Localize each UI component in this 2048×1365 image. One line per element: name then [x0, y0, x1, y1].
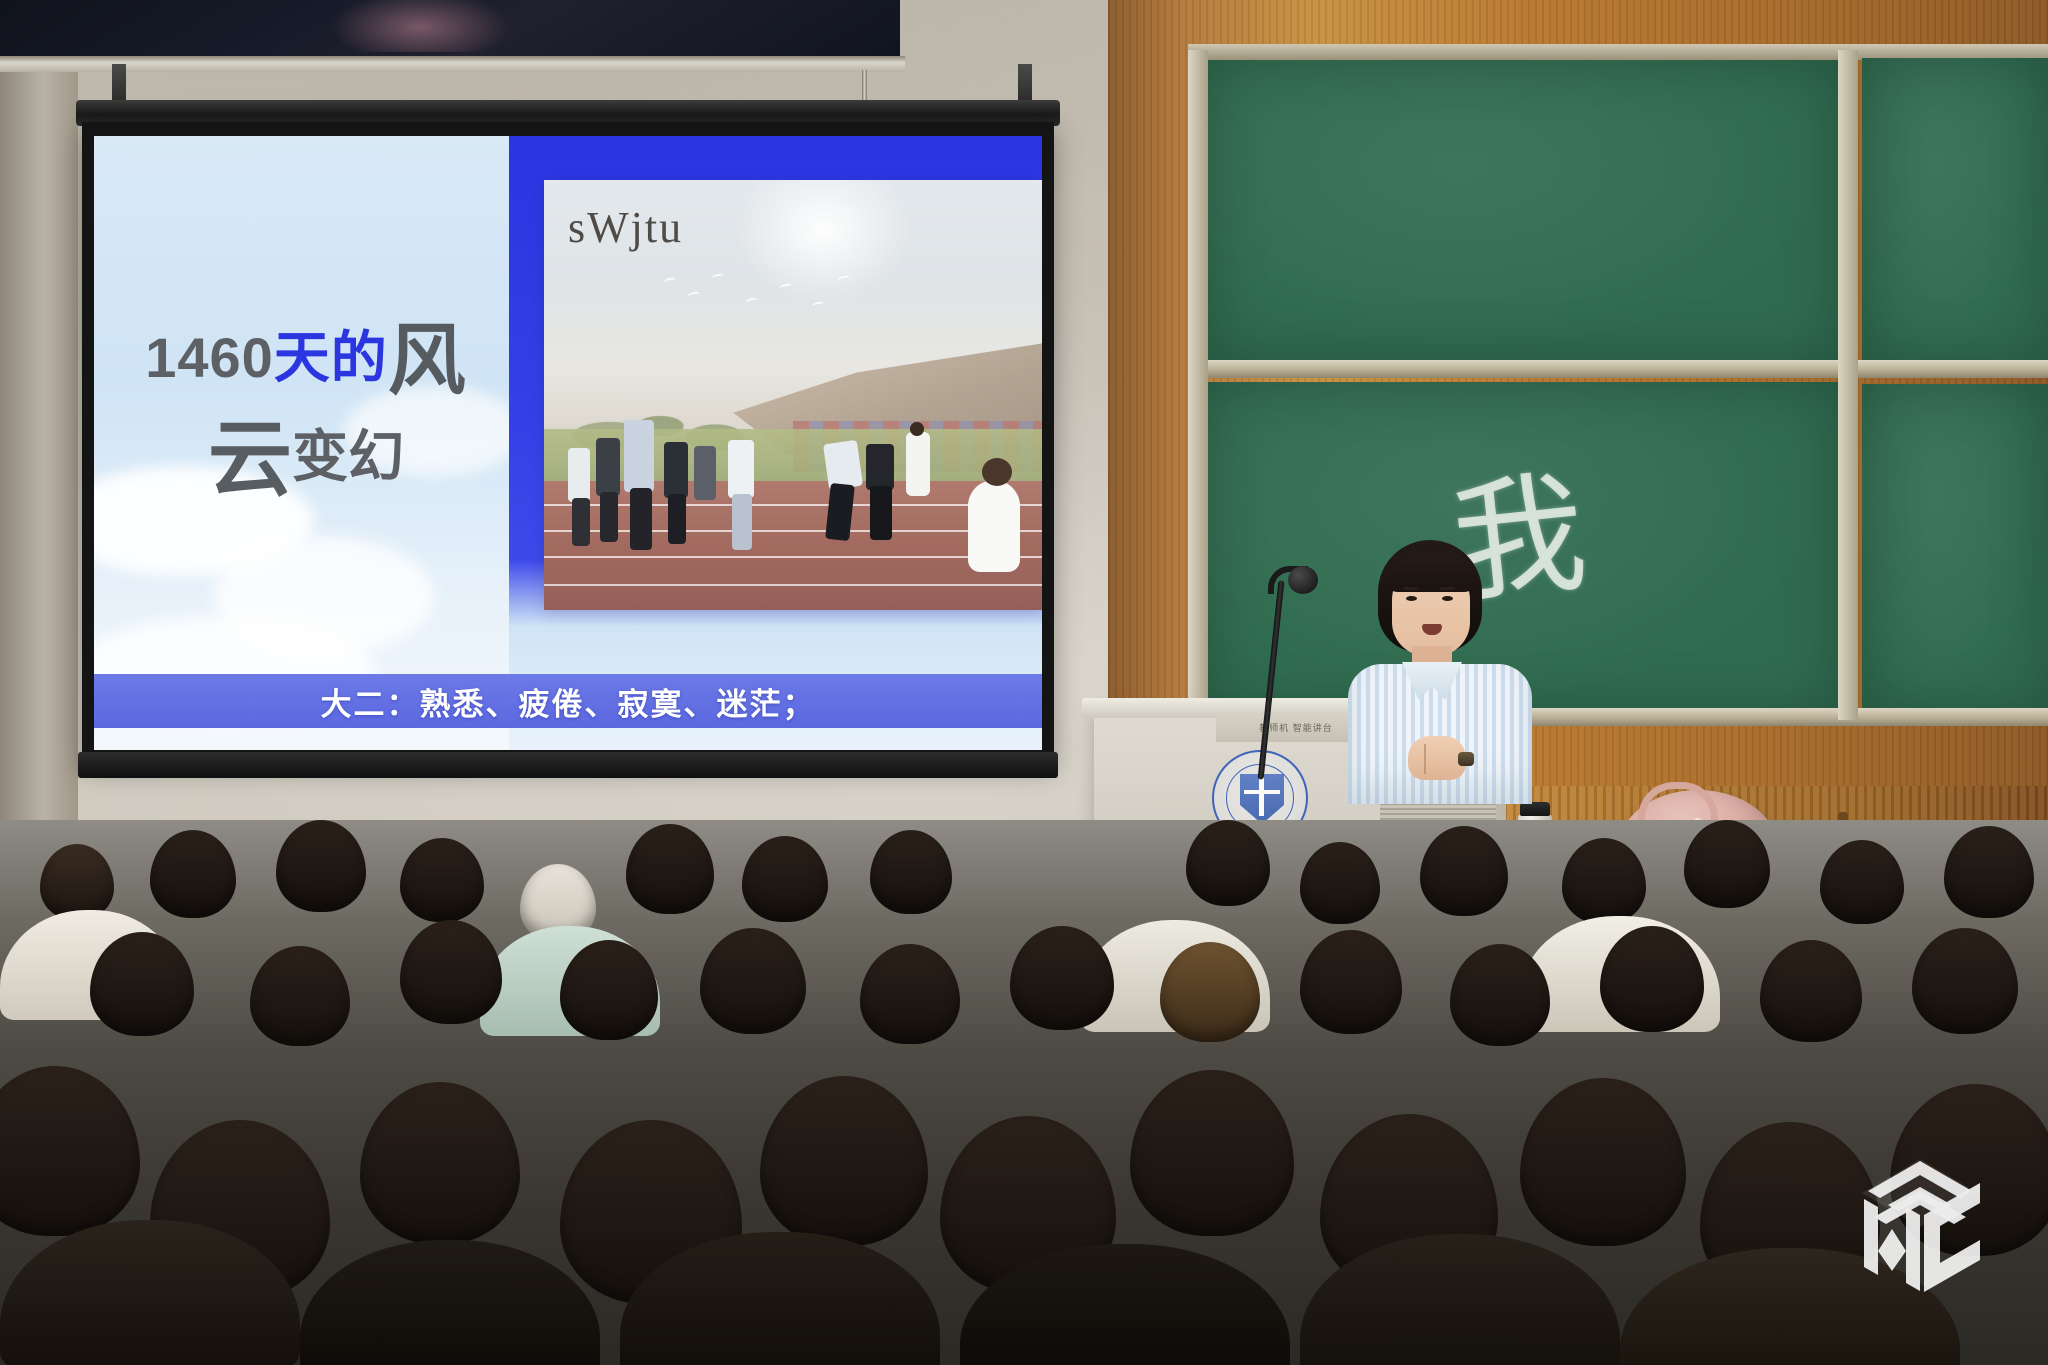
- blackboard-panel-lower-right: [1862, 384, 2048, 712]
- lectern-nameplate-text: 教师机 智能讲台: [1259, 721, 1333, 734]
- photo-foreground-figure: [968, 480, 1020, 572]
- photo-person: [624, 420, 654, 492]
- photo-person: [732, 494, 752, 550]
- wall-left-column: [0, 0, 78, 880]
- photo-person: [596, 438, 620, 496]
- photo-person: [728, 440, 754, 498]
- title-rest-chars: 变幻: [292, 425, 404, 488]
- speaker-eye: [1442, 596, 1453, 601]
- speaker-eyebrow: [1403, 587, 1419, 590]
- slide-caption-text: 大二：熟悉、疲倦、寂寞、迷茫；: [321, 679, 816, 724]
- emblem-shield-icon: [1240, 774, 1284, 824]
- photo-runner: [870, 486, 892, 540]
- speaker-eyebrow: [1439, 587, 1455, 590]
- audience-area: [0, 820, 2048, 1365]
- photo-runner: [866, 444, 894, 490]
- photo-person-head: [910, 422, 924, 436]
- photo-person: [668, 494, 686, 544]
- photo-person: [694, 446, 716, 500]
- title-big-char-1: 风: [388, 316, 467, 404]
- projection-screen-bottom-bar: [78, 752, 1058, 778]
- slide-title-line1: 1460天的风: [126, 321, 486, 399]
- slide-photo: sWjtu: [544, 180, 1042, 610]
- photo-runner: [823, 440, 863, 490]
- blackboard-divider-right: [1838, 50, 1858, 720]
- lecture-hall-photo: 我 1460天的风 云变幻: [0, 0, 2048, 1365]
- slide-left-column: 1460天的风 云变幻: [94, 136, 509, 750]
- ceiling-monitor-top: [0, 0, 900, 62]
- speaker-fringe: [1386, 554, 1476, 592]
- photo-foreground-head: [982, 458, 1012, 486]
- title-blue-chars: 天的: [274, 326, 388, 389]
- podium-microphone-icon: [1288, 566, 1318, 594]
- blackboard-panel-upper-right: [1862, 58, 2048, 362]
- speaker-hand-detail: [1424, 744, 1426, 774]
- presentation-slide: 1460天的风 云变幻: [94, 136, 1042, 750]
- blackboard-rail-middle: [1190, 360, 2048, 378]
- slide-title-line2: 云变幻: [126, 417, 486, 501]
- speaker-person: [1330, 540, 1550, 800]
- blackboard-panel-upper-left: [1208, 60, 1838, 360]
- speaker-eye: [1406, 596, 1417, 601]
- photo-birds: [654, 272, 854, 332]
- photo-person: [568, 448, 590, 502]
- emc-watermark-logo: [1854, 1147, 2004, 1319]
- photo-person: [572, 498, 590, 546]
- slide-caption-bar: 大二：熟悉、疲倦、寂寞、迷茫；: [94, 674, 1042, 728]
- title-num: 1460: [145, 326, 274, 389]
- slide-title: 1460天的风 云变幻: [126, 321, 486, 501]
- ceiling-monitor-frame: [0, 56, 905, 72]
- blackboard-divider-left: [1188, 50, 1208, 720]
- photo-person: [664, 442, 688, 498]
- photo-person: [600, 492, 618, 542]
- title-big-char-2: 云: [208, 412, 292, 506]
- photo-watermark-text: sWjtu: [568, 202, 683, 253]
- photo-person: [630, 488, 652, 550]
- projection-screen: 1460天的风 云变幻: [82, 122, 1054, 762]
- photo-person-whitecoat: [906, 432, 930, 496]
- speaker-wristwatch: [1458, 752, 1474, 766]
